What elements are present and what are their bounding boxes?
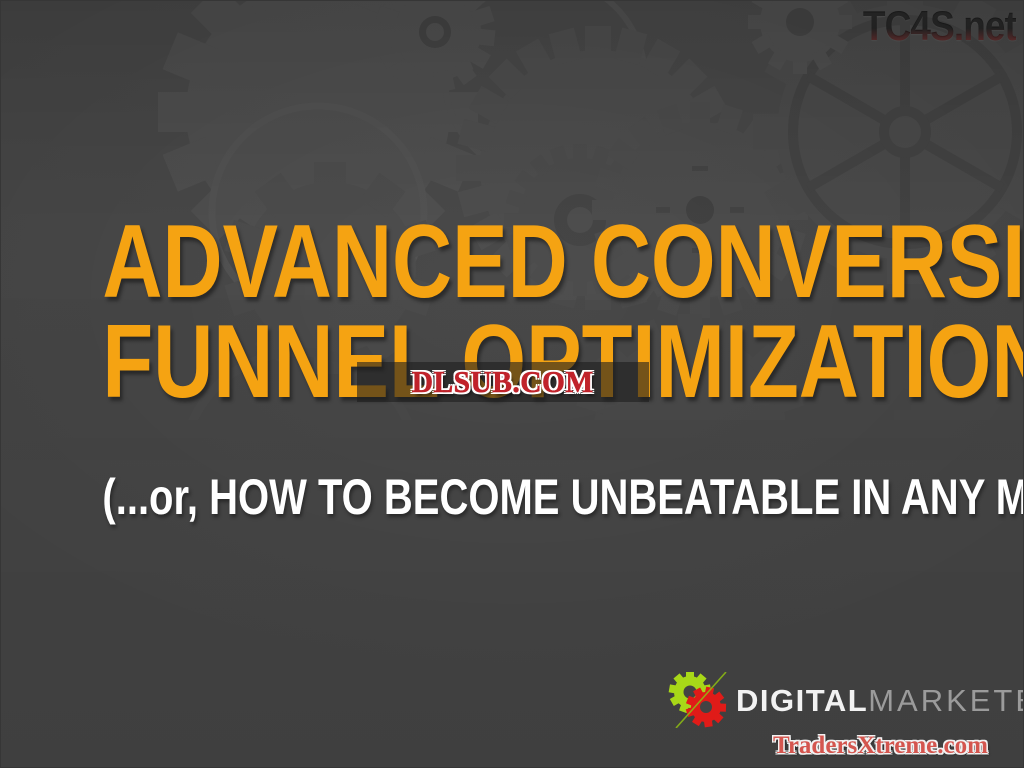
watermark-dlsub-text: DLSUB.COM	[412, 364, 594, 400]
logo-word-digital: DIGITAL	[736, 683, 868, 718]
logo-gears-icon	[668, 672, 734, 728]
logo-word-marketer: MARKETER	[868, 683, 1024, 718]
digitalmarketer-logo: DIGITALMARKETER	[668, 672, 1024, 728]
watermark-tradersxtreme: TradersXtreme.com	[773, 732, 988, 760]
title-line-1: ADVANCED CONVERSION	[102, 210, 921, 314]
logo-wordmark: DIGITALMARKETER	[736, 685, 1024, 716]
subtitle-text: (...or, HOW TO BECOME UNBEATABLE IN ANY …	[102, 468, 921, 526]
slide-canvas: ADVANCED CONVERSION FUNNEL OPTIMIZATION …	[0, 0, 1024, 768]
watermark-dlsub-band: DLSUB.COM	[357, 362, 649, 402]
watermark-tc4s: TC4S.net	[863, 2, 1016, 50]
